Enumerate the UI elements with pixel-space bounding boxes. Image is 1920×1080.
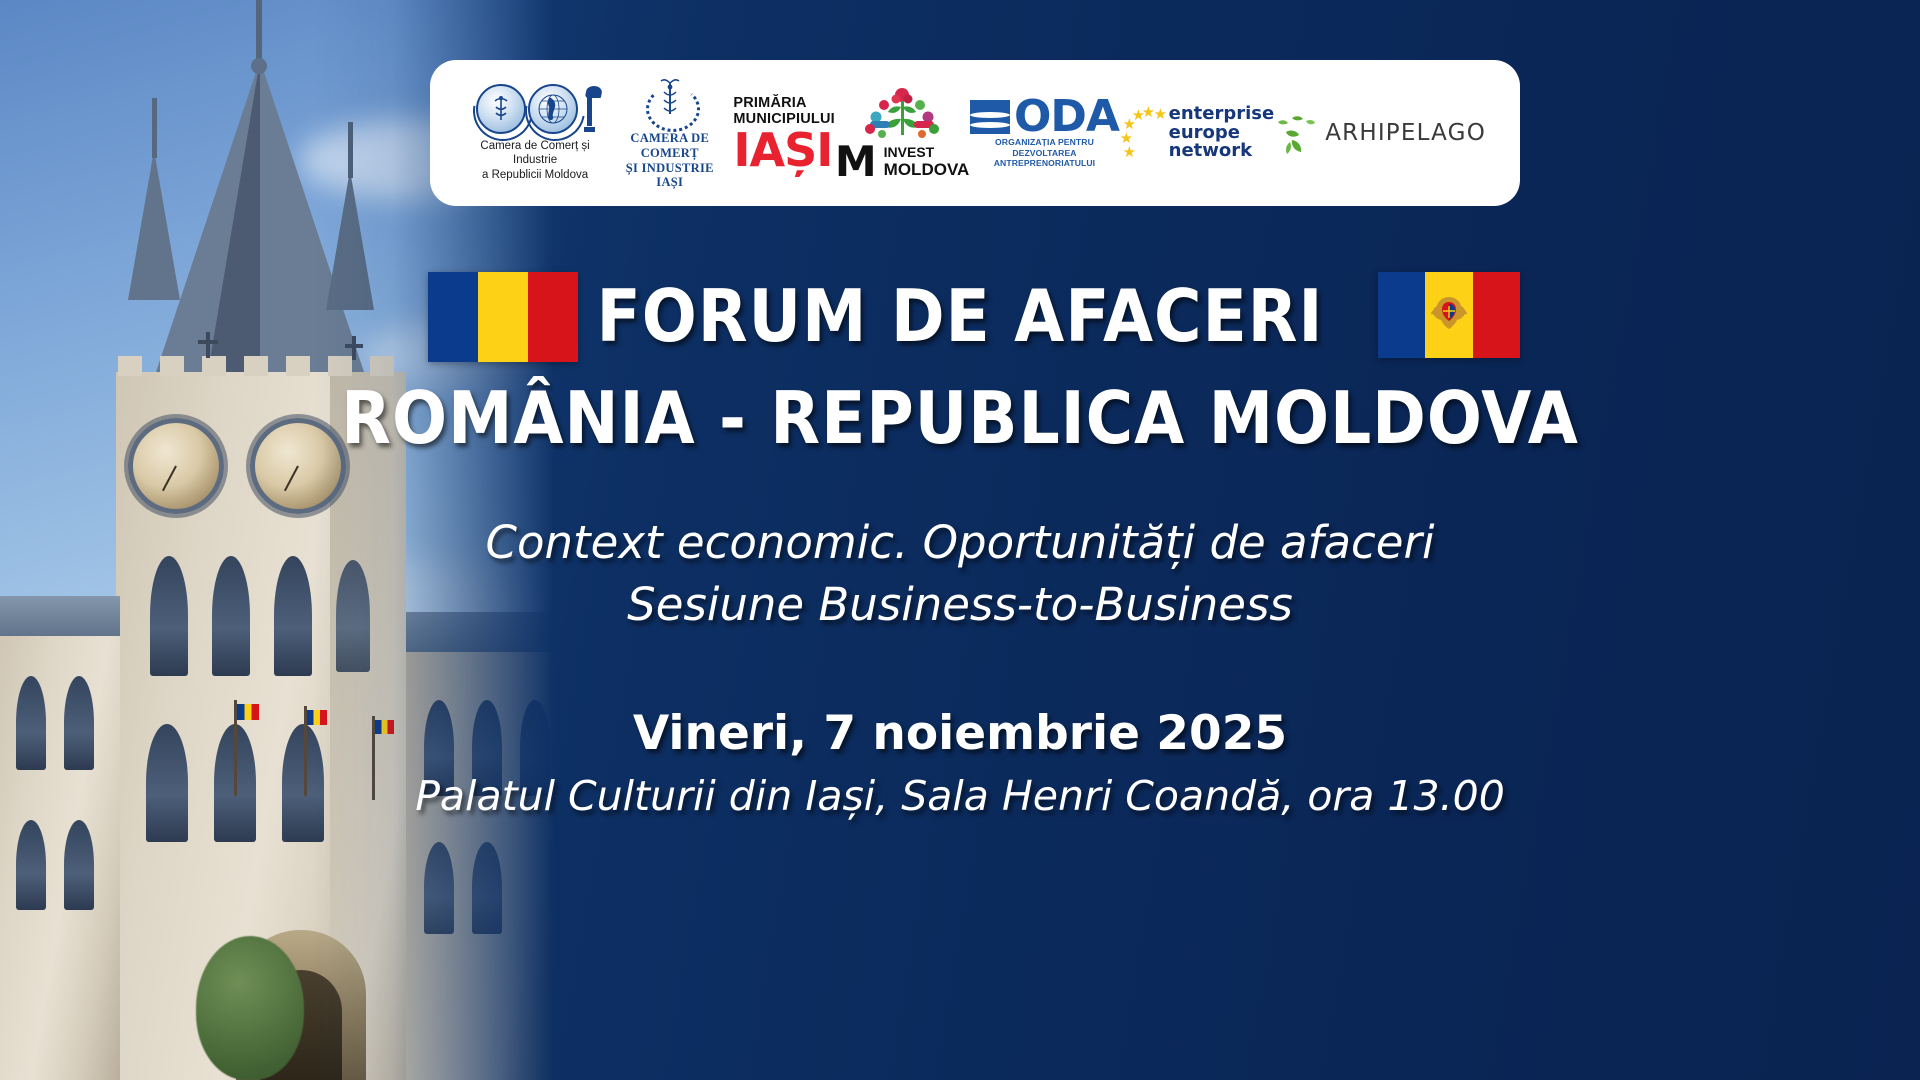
subtitle-line-1: Context economic. Oportunități de afacer… [0, 516, 1920, 569]
oda-caption-line-1: ORGANIZAȚIA PENTRU DEZVOLTAREA [995, 137, 1094, 157]
een-row: ★ ★ ★ ★ ★ ★ enterprise europe network [1120, 105, 1275, 161]
event-venue: Palatul Culturii din Iași, Sala Henri Co… [0, 772, 1920, 820]
een-line-3: network [1169, 142, 1275, 161]
caduceus-glyph [655, 78, 685, 118]
invest-moldova-wordmark: M INVEST MOLDOVA [835, 145, 969, 180]
globe-moldova-icon [528, 84, 578, 134]
iasi-wordmark: IAȘI [733, 129, 832, 171]
oda-caption: ORGANIZAȚIA PENTRU DEZVOLTAREA ANTREPREN… [969, 137, 1119, 168]
crenellation [118, 356, 142, 376]
eu-stars-icon: ★ ★ ★ ★ ★ ★ [1120, 105, 1164, 161]
arhipelago-wordmark: ARHIPELAGO [1325, 120, 1486, 146]
crenellation [160, 356, 184, 376]
crenellation [202, 356, 226, 376]
logo-enterprise-europe-network: ★ ★ ★ ★ ★ ★ enterprise europe network [1120, 105, 1275, 161]
torch-icon [584, 86, 595, 132]
logo-cci-moldova: Camera de Comerț și Industrie a Republic… [464, 84, 606, 181]
invest-moldova-text: INVEST MOLDOVA [884, 145, 970, 180]
primaria-line-1: PRIMĂRIA [733, 95, 806, 111]
logo-primaria-iasi: PRIMĂRIA MUNICIPIULUI IAȘI [733, 95, 834, 172]
event-date: Vineri, 7 noiembrie 2025 [0, 706, 1920, 761]
moldova-word: MOLDOVA [884, 160, 970, 179]
caption-line-2: ȘI INDUSTRIE [626, 161, 714, 175]
logo-cci-iasi: CAMERA DE COMERȚ ȘI INDUSTRIE IAȘI [606, 76, 733, 190]
oda-wordmark-row: ODA [970, 98, 1119, 136]
caption-line-1: CAMERA DE COMERȚ [630, 131, 709, 160]
crenellation [328, 356, 352, 376]
star: ★ [1123, 145, 1136, 160]
crenellation [286, 356, 310, 376]
star: ★ [1154, 107, 1167, 122]
left-wing-window [16, 820, 46, 910]
headline-line-2: ROMÂNIA - REPUBLICA MOLDOVA [96, 376, 1824, 460]
logo-invest-moldova: M INVEST MOLDOVA [835, 87, 969, 180]
tower-finial-ball [251, 58, 267, 74]
oda-wordmark: ODA [1014, 98, 1119, 136]
moldovan-tree-motif-icon [854, 87, 950, 145]
m-letter: M [835, 145, 877, 179]
crenellation [244, 356, 268, 376]
invest-word: INVEST [884, 144, 935, 160]
caption-line-1: Camera de Comerț și Industrie [480, 140, 589, 166]
wreath-caduceus-icon [642, 76, 698, 128]
torch-stem [587, 96, 592, 126]
een-line-1: enterprise [1169, 105, 1275, 124]
caption-line-3: IAȘI [656, 175, 683, 189]
headline-line-1: FORUM DE AFACERI [96, 274, 1824, 358]
wave-line [970, 112, 1010, 118]
subtitle-line-2: Sesiune Business-to-Business [0, 578, 1920, 631]
logo-caption: Camera de Comerț și Industrie a Republic… [464, 139, 606, 181]
wave-line [970, 122, 1010, 128]
logo-caption: CAMERA DE COMERȚ ȘI INDUSTRIE IAȘI [606, 131, 733, 190]
cci-moldova-mark [476, 84, 595, 134]
oda-wave-icon [970, 100, 1010, 134]
partner-logo-bar: Camera de Comerț și Industrie a Republic… [430, 60, 1520, 206]
side-spire-left-pole [152, 98, 157, 158]
logo-arhipelago: ARHIPELAGO [1274, 112, 1486, 154]
caption-line-2: a Republicii Moldova [482, 169, 588, 181]
caduceus-icon [476, 84, 526, 134]
wing-window [424, 842, 454, 934]
logo-oda: ODA ORGANIZAȚIA PENTRU DEZVOLTAREA ANTRE… [969, 98, 1119, 169]
oda-caption-line-2: ANTREPRENORIATULUI [994, 158, 1095, 168]
archipelago-islands-icon [1274, 112, 1318, 154]
side-spire-right-pole [348, 122, 353, 178]
tree [196, 936, 304, 1080]
arhipelago-row: ARHIPELAGO [1274, 112, 1486, 154]
event-poster: Camera de Comerț și Industrie a Republic… [0, 0, 1920, 1080]
wing-window [472, 842, 502, 934]
torch-base [584, 127, 595, 132]
een-wordmark: enterprise europe network [1169, 105, 1275, 161]
left-wing-window [64, 820, 94, 910]
crenellation [370, 356, 394, 376]
